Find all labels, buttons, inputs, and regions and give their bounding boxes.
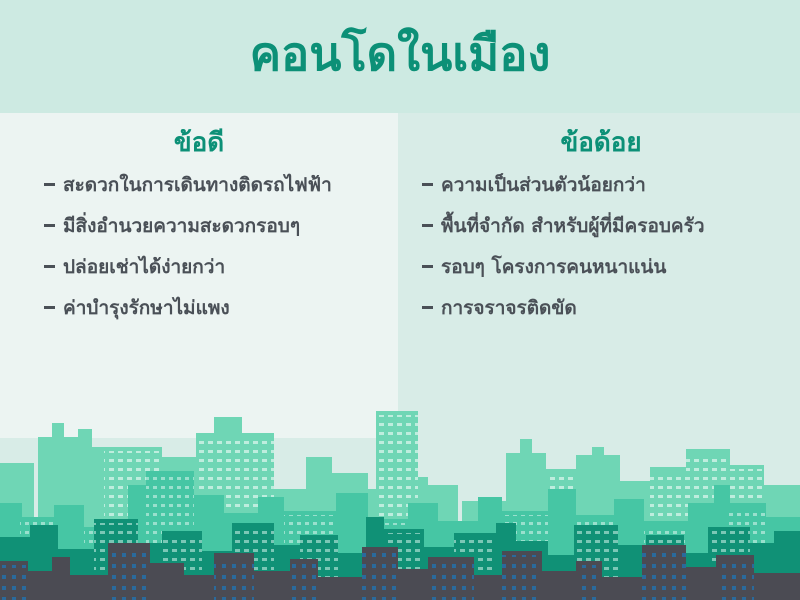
list-item-label: ค่าบำรุงรักษาไม่แพง <box>63 297 230 320</box>
dash-bullet-icon <box>422 265 433 268</box>
list-item-label: ความเป็นส่วนตัวน้อยกว่า <box>441 174 646 197</box>
pros-heading: ข้อดี <box>6 127 392 160</box>
list-item-label: การจราจรติดขัด <box>441 297 577 320</box>
list-item: รอบๆ โครงการคนหนาแน่น <box>422 256 794 297</box>
dash-bullet-icon <box>44 306 55 309</box>
dash-bullet-icon <box>422 306 433 309</box>
pros-column: ข้อดี สะดวกในการเดินทางติดรถไฟฟ้า มีสิ่ง… <box>6 127 392 338</box>
list-item: ความเป็นส่วนตัวน้อยกว่า <box>422 174 794 215</box>
dash-bullet-icon <box>44 265 55 268</box>
page-title: คอนโดในเมือง <box>0 26 800 83</box>
list-item-label: ปล่อยเช่าได้ง่ายกว่า <box>63 256 225 279</box>
infographic-canvas: คอนโดในเมือง ข้อดี สะดวกในการเดินทางติดร… <box>0 0 800 600</box>
cons-column: ข้อด้อย ความเป็นส่วนตัวน้อยกว่า พื้นที่จ… <box>408 127 794 338</box>
list-item: ค่าบำรุงรักษาไม่แพง <box>44 297 392 338</box>
dash-bullet-icon <box>422 224 433 227</box>
cons-list: ความเป็นส่วนตัวน้อยกว่า พื้นที่จำกัด สำห… <box>408 174 794 338</box>
list-item-label: พื้นที่จำกัด สำหรับผู้ที่มีครอบครัว <box>441 215 705 238</box>
list-item: ปล่อยเช่าได้ง่ายกว่า <box>44 256 392 297</box>
pros-list: สะดวกในการเดินทางติดรถไฟฟ้า มีสิ่งอำนวยค… <box>6 174 392 338</box>
dash-bullet-icon <box>44 224 55 227</box>
dash-bullet-icon <box>44 183 55 186</box>
list-item: พื้นที่จำกัด สำหรับผู้ที่มีครอบครัว <box>422 215 794 256</box>
cons-heading: ข้อด้อย <box>408 127 794 160</box>
list-item-label: รอบๆ โครงการคนหนาแน่น <box>441 256 666 279</box>
list-item: การจราจรติดขัด <box>422 297 794 338</box>
list-item: สะดวกในการเดินทางติดรถไฟฟ้า <box>44 174 392 215</box>
list-item: มีสิ่งอำนวยความสะดวกรอบๆ <box>44 215 392 256</box>
dash-bullet-icon <box>422 183 433 186</box>
list-item-label: มีสิ่งอำนวยความสะดวกรอบๆ <box>63 215 300 238</box>
city-skyline-illustration <box>0 385 800 600</box>
list-item-label: สะดวกในการเดินทางติดรถไฟฟ้า <box>63 174 332 197</box>
